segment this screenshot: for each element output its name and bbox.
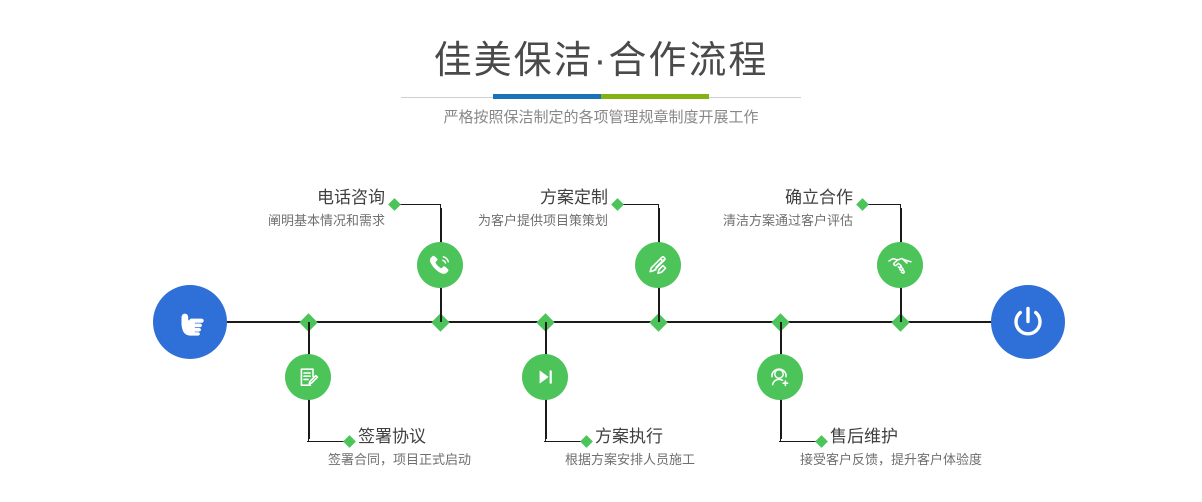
step-title: 电话咨询 — [150, 187, 385, 209]
document-sign-icon — [294, 363, 322, 391]
label-elbow-v-top-3 — [900, 204, 901, 238]
step-desc: 清洁方案通过客户评估 — [618, 211, 853, 231]
step-label-top-3: 确立合作 清洁方案通过客户评估 — [618, 187, 853, 231]
step-label-top-2: 方案定制 为客户提供项目策策划 — [373, 187, 608, 231]
process-flow-infographic: 佳美保洁·合作流程 严格按照保洁制定的各项管理规章制度开展工作 — [0, 0, 1202, 502]
pointing-hand-icon — [170, 302, 210, 342]
page-subtitle: 严格按照保洁制定的各项管理规章制度开展工作 — [0, 106, 1202, 130]
step-label-top-1: 电话咨询 阐明基本情况和需求 — [150, 187, 385, 231]
step-icon-play-forward[interactable] — [522, 354, 568, 400]
label-elbow-v-bottom-3 — [780, 404, 781, 442]
label-elbow-h-top-3 — [864, 204, 900, 205]
label-elbow-v-bottom-1 — [308, 404, 309, 442]
label-marker-top-3 — [856, 198, 869, 211]
flow-end-node — [991, 285, 1065, 359]
step-icon-customer-service[interactable] — [757, 354, 803, 400]
step-title: 方案定制 — [373, 187, 608, 209]
step-title: 方案执行 — [595, 426, 855, 448]
step-title: 售后维护 — [830, 426, 1110, 448]
label-elbow-v-bottom-2 — [545, 404, 546, 442]
label-marker-bottom-1 — [343, 435, 356, 448]
customer-service-add-icon — [766, 363, 794, 391]
step-desc: 为客户提供项目策策划 — [373, 211, 608, 231]
phone-call-icon — [426, 251, 454, 279]
step-title: 确立合作 — [618, 187, 853, 209]
step-icon-document-sign[interactable] — [285, 354, 331, 400]
power-icon — [1007, 301, 1049, 343]
title-divider — [401, 94, 801, 100]
page-title: 佳美保洁·合作流程 — [0, 38, 1202, 84]
step-desc: 阐明基本情况和需求 — [150, 211, 385, 231]
step-desc: 接受客户反馈，提升客户体验度 — [800, 450, 1110, 470]
divider-segment-green — [601, 94, 709, 99]
step-icon-handshake[interactable] — [877, 242, 923, 288]
divider-segment-blue — [493, 94, 601, 99]
step-title: 签署协议 — [358, 426, 618, 448]
step-icon-pencil-plan[interactable] — [635, 242, 681, 288]
step-icon-phone-call[interactable] — [417, 242, 463, 288]
pencil-plan-icon — [644, 251, 672, 279]
handshake-icon — [885, 250, 915, 280]
flow-start-node — [153, 285, 227, 359]
play-forward-icon — [531, 363, 559, 391]
step-label-bottom-3: 售后维护 接受客户反馈，提升客户体验度 — [830, 426, 1110, 470]
